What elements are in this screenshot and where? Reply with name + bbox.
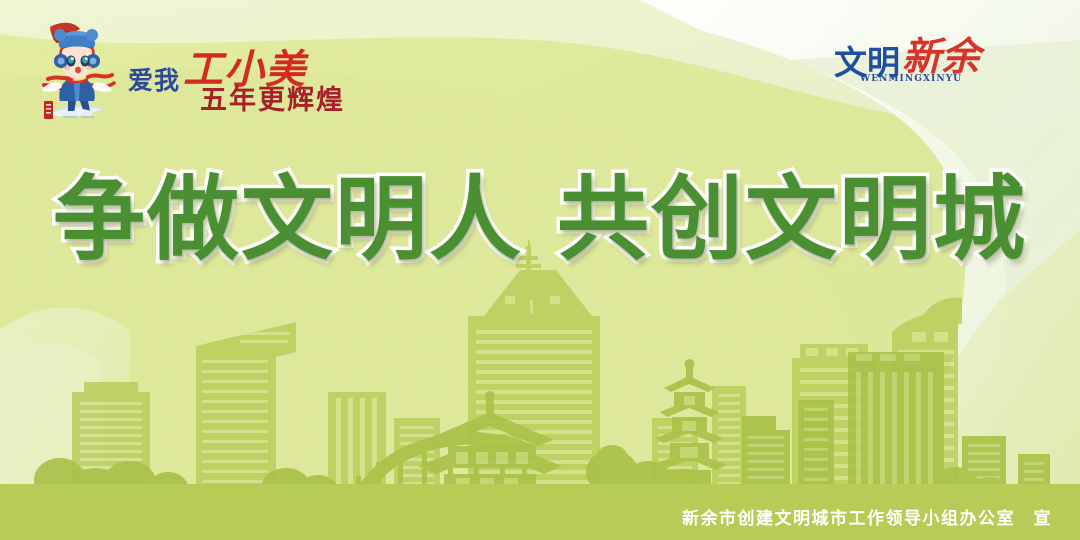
headline-phrase-1: 争做文明人 bbox=[53, 166, 523, 273]
headline-phrase-2: 共创文明城 bbox=[557, 166, 1027, 273]
mascot-logo-text: 爱我工小美 五年更辉煌 bbox=[128, 21, 353, 121]
wenming-xinyu-pinyin: WENMINGXINYU bbox=[860, 74, 962, 84]
wenming-xinyu-characters: 文明新余 bbox=[834, 38, 1024, 79]
mascot-logo-prefix: 爱我 bbox=[128, 66, 180, 95]
poster-canvas: 爱我工小美 五年更辉煌 文明新余 WENMINGXINYU 争做文明人共创文明城… bbox=[0, 0, 1080, 540]
ice-skating-girl-mascot-icon bbox=[30, 19, 122, 123]
mascot-logo-line2: 五年更辉煌 bbox=[200, 78, 345, 117]
mascot-logo-group: 爱我工小美 五年更辉煌 bbox=[30, 18, 360, 124]
issuer-credit: 新余市创建文明城市工作领导小组办公室 宣 bbox=[682, 504, 1052, 529]
page-title: 争做文明人共创文明城 bbox=[0, 172, 1080, 269]
wenming-xinyu-logo: 文明新余 WENMINGXINYU bbox=[834, 38, 1024, 98]
